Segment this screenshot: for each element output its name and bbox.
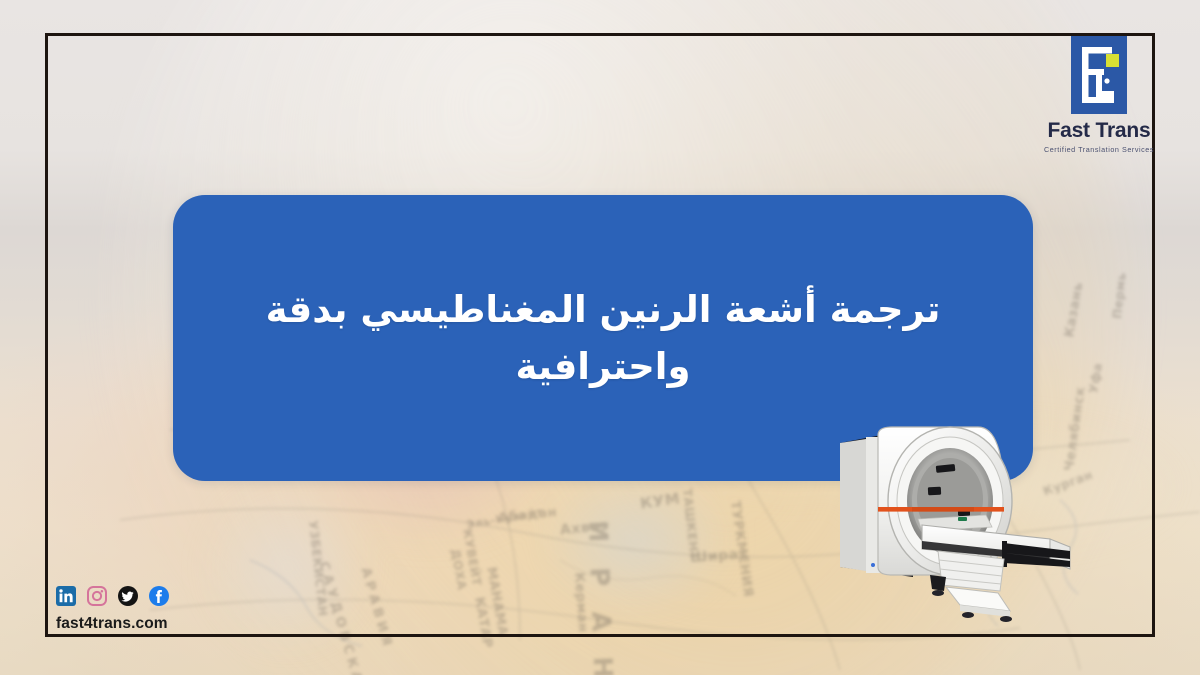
social-links: fast4trans.com bbox=[56, 585, 169, 633]
fasttrans-f-logo-icon bbox=[1071, 36, 1127, 114]
facebook-icon[interactable] bbox=[149, 586, 169, 606]
website-url[interactable]: fast4trans.com bbox=[56, 615, 169, 633]
instagram-icon[interactable] bbox=[87, 586, 107, 606]
banner-canvas: КУМ Ахваз Абадан И Р А Н Шираз Керман СА… bbox=[0, 0, 1200, 675]
mri-scanner-illustration bbox=[818, 415, 1090, 630]
linkedin-icon[interactable] bbox=[56, 586, 76, 606]
headline-text: ترجمة أشعة الرنين المغناطيسي بدقة واحترا… bbox=[173, 281, 1033, 396]
social-icon-row bbox=[56, 585, 169, 607]
logo-tagline: Certified Translation Services bbox=[1040, 145, 1158, 154]
twitter-icon[interactable] bbox=[118, 586, 138, 606]
brand-logo[interactable]: Fast Trans Certified Translation Service… bbox=[1040, 36, 1158, 154]
logo-wordmark: Fast Trans bbox=[1040, 120, 1158, 142]
